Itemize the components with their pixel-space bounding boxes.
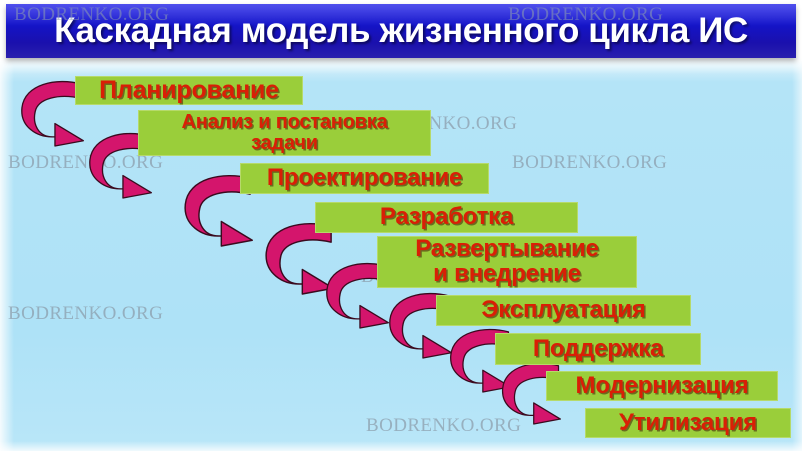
background-bottom-vignette [0,441,802,451]
stage-box[interactable]: Утилизация [585,408,791,438]
stage-box[interactable]: Эксплуатация [436,295,691,326]
background-left-vignette [0,56,14,451]
slide-canvas: Каскадная модель жизненного цикла ИС BOD… [0,0,802,451]
title-banner: Каскадная модель жизненного цикла ИС [6,4,796,58]
stage-box[interactable]: Проектирование [240,163,489,194]
stage-box[interactable]: Модернизация [546,371,778,401]
stage-box[interactable]: Разработка [315,202,578,233]
stage-box[interactable]: Планирование [75,76,303,105]
stage-box[interactable]: Поддержка [495,333,701,365]
stage-box[interactable]: Анализ и постановка задачи [138,110,431,156]
background-right-vignette [792,56,802,451]
slide-title: Каскадная модель жизненного цикла ИС [6,7,796,55]
stage-box[interactable]: Развертывание и внедрение [377,236,637,288]
